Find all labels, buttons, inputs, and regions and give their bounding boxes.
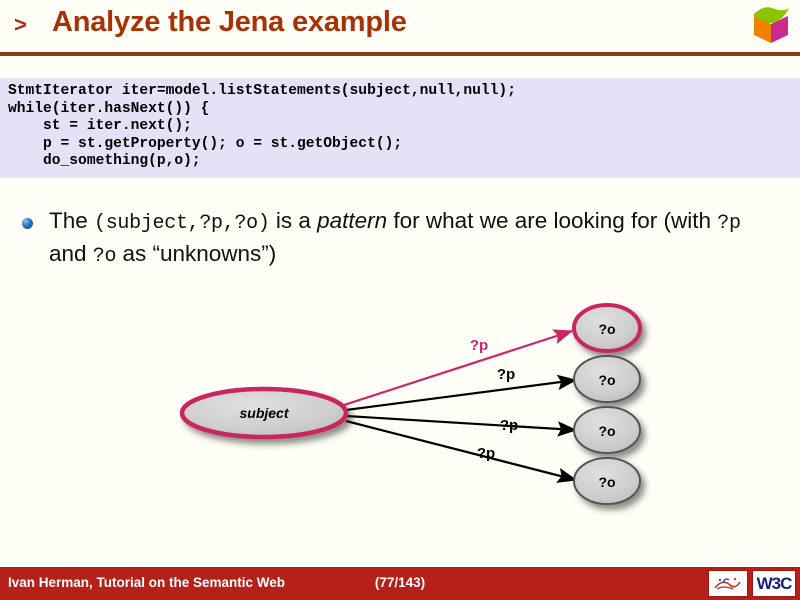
node-object-3[interactable]: ?o bbox=[574, 407, 640, 453]
edge-label-3: ?p bbox=[500, 417, 518, 434]
title-chevron-marker: > bbox=[14, 12, 27, 38]
w3c-logo-icon: W3C bbox=[752, 570, 796, 597]
node-subject-label: subject bbox=[239, 405, 289, 421]
bullet-text-part-3: for what we are looking for (with bbox=[387, 208, 717, 233]
node-object-1[interactable]: ?o bbox=[574, 305, 640, 351]
edge-label-1: ?p bbox=[470, 337, 488, 354]
edge-label-4: ?p bbox=[477, 445, 495, 462]
node-object-2-label: ?o bbox=[598, 372, 615, 388]
node-object-2[interactable]: ?o bbox=[574, 356, 640, 402]
edge-3 bbox=[346, 416, 576, 430]
footer-logo-group: W3C bbox=[708, 569, 796, 598]
rdf-pattern-diagram: ?p ?p ?p ?p subject ?o ?o ?o ?o bbox=[168, 288, 668, 523]
bullet-item-text: The (subject,?p,?o) is a pattern for wha… bbox=[49, 206, 771, 272]
bullet-emphasis-pattern: pattern bbox=[317, 208, 387, 233]
node-object-3-label: ?o bbox=[598, 423, 615, 439]
edge-label-2: ?p bbox=[497, 366, 515, 383]
title-divider bbox=[0, 52, 800, 56]
page-title: Analyze the Jena example bbox=[52, 6, 407, 39]
w3c-logo-text: W3C bbox=[757, 574, 792, 594]
code-text: StmtIterator iter=model.listStatements(s… bbox=[8, 83, 800, 171]
bullet-text-part-4: and bbox=[49, 241, 93, 266]
bullet-text-part-1: The bbox=[49, 208, 94, 233]
bullet-code-o: ?o bbox=[93, 245, 116, 268]
code-block: StmtIterator iter=model.listStatements(s… bbox=[0, 78, 800, 178]
diagram-edges bbox=[344, 331, 576, 480]
edge-2 bbox=[346, 380, 576, 410]
bullet-code-p: ?p bbox=[717, 212, 740, 235]
slide-header: > Analyze the Jena example bbox=[0, 0, 800, 56]
node-subject[interactable]: subject bbox=[182, 389, 346, 437]
slide-footer: Ivan Herman, Tutorial on the Semantic We… bbox=[0, 567, 800, 600]
bullet-text-part-5: as “unknowns”) bbox=[116, 241, 276, 266]
bullet-text-part-2: is a bbox=[270, 208, 318, 233]
edge-1-highlighted bbox=[344, 331, 572, 405]
node-object-4[interactable]: ?o bbox=[574, 458, 640, 504]
footer-page-number: (77/143) bbox=[0, 575, 800, 590]
bullet-code-pattern: (subject,?p,?o) bbox=[94, 212, 270, 235]
cube-logo-icon bbox=[748, 2, 794, 48]
edge-4 bbox=[346, 421, 576, 480]
node-object-4-label: ?o bbox=[598, 474, 615, 490]
blue-sphere-bullet-icon bbox=[22, 218, 33, 229]
arabic-calligraphy-logo-icon bbox=[708, 570, 748, 597]
node-object-1-label: ?o bbox=[598, 321, 615, 337]
